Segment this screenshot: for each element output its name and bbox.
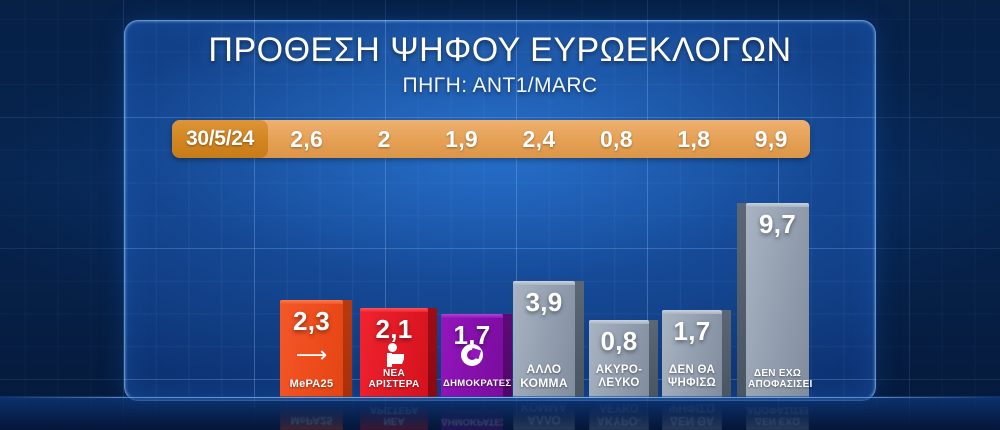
reflection-akyro-lefko: ΑΚΥΡΟ- ΛΕΥΚΟ <box>589 400 649 430</box>
reflection-allo-komma: ΑΛΛΟ ΚΟΜΜΑ <box>513 400 575 430</box>
reflection-den-exo-apofasisei: ΔΕΝ ΕΧΩ ΑΠΟΦΑΣΙΣΕΙ <box>746 400 809 430</box>
broadcast-graphic: ΠΡΟΘΕΣΗ ΨΗΦΟΥ ΕΥΡΩΕΚΛΟΓΩΝ ΠΗΓΗ: ΑΝΤ1/MAR… <box>0 0 1000 430</box>
reflection-dimokrates: ΔΗΜΟΚΡΑΤΕΣ <box>441 400 503 430</box>
reflection-label-allo-komma: ΑΛΛΟ ΚΟΜΜΑ <box>513 400 575 426</box>
reflection-label-mera25: MePA25 <box>280 414 343 426</box>
reflection-mera25: MePA25 <box>280 400 343 430</box>
reflection-label-akyro-lefko: ΑΚΥΡΟ- ΛΕΥΚΟ <box>589 400 649 426</box>
bar-reflections: MePA25 ΝΕΑ ΑΡΙΣΤΕΡΑ ΔΗΜΟΚΡΑΤΕΣ ΑΛΛΟ ΚΟΜΜ… <box>0 0 1000 430</box>
reflection-den-tha-psifiso: ΔΕΝ ΘΑ ΨΗΦΙΣΩ <box>662 400 722 430</box>
reflection-nea-aristera: ΝΕΑ ΑΡΙΣΤΕΡΑ <box>360 400 428 430</box>
reflection-label-den-exo-apofasisei: ΔΕΝ ΕΧΩ ΑΠΟΦΑΣΙΣΕΙ <box>746 404 809 426</box>
reflection-label-dimokrates: ΔΗΜΟΚΡΑΤΕΣ <box>441 415 503 426</box>
reflection-label-den-tha-psifiso: ΔΕΝ ΘΑ ΨΗΦΙΣΩ <box>662 400 722 426</box>
reflection-label-nea-aristera: ΝΕΑ ΑΡΙΣΤΕΡΑ <box>360 404 428 426</box>
